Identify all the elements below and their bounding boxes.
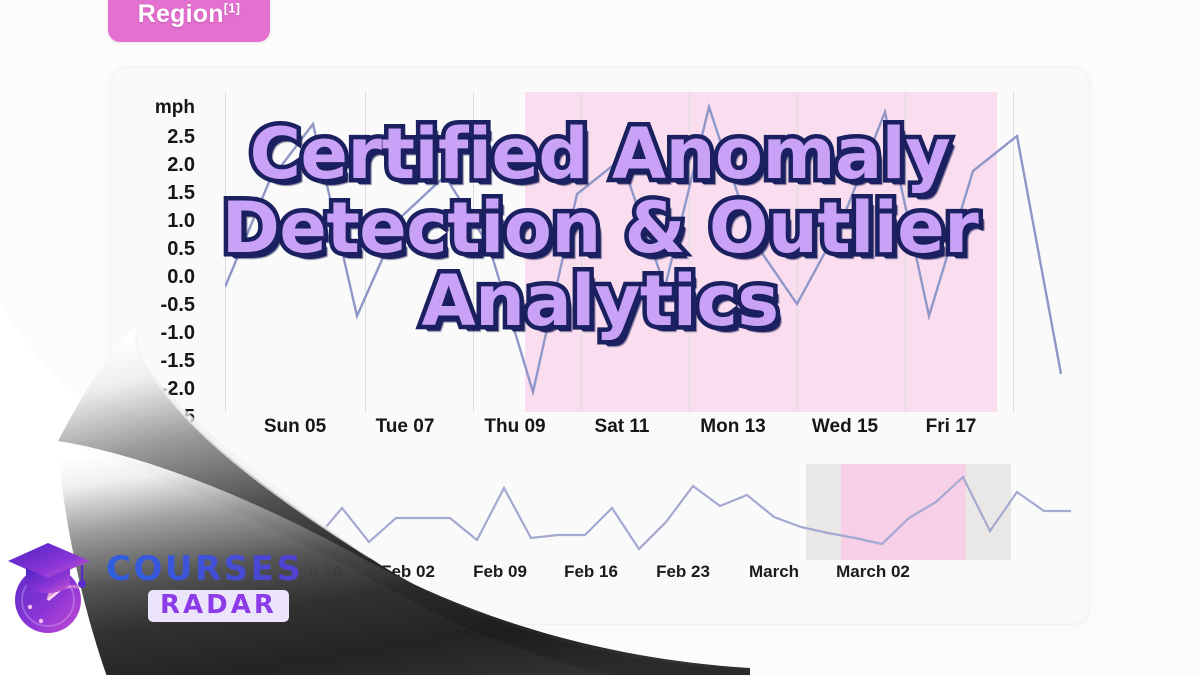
y-tick: 0.0 — [129, 267, 195, 295]
y-tick: 2.0 — [129, 155, 195, 183]
region-badge-label: Region[1] — [138, 0, 240, 29]
y-tick: -1.0 — [129, 323, 195, 351]
brand-wordmark: COURSES RADAR — [106, 552, 303, 623]
brush-x-tick: March 02 — [836, 562, 910, 582]
plot-area — [225, 92, 1065, 412]
y-tick: -2.0 — [129, 379, 195, 407]
region-badge[interactable]: Region[1] — [108, 0, 270, 42]
x-tick: Wed 15 — [812, 416, 878, 438]
x-tick: Mon 13 — [700, 416, 765, 438]
main-series-line — [225, 92, 1065, 412]
region-badge-superscript: [1] — [224, 0, 241, 15]
y-tick: -1.5 — [129, 351, 195, 379]
brush-x-tick: Feb 16 — [564, 562, 618, 582]
y-axis-unit-label: mph — [129, 98, 195, 127]
x-axis: Sun 05 Tue 07 Thu 09 Sat 11 Mon 13 Wed 1… — [225, 416, 1065, 448]
brush-x-tick: Feb 02 — [381, 562, 435, 582]
brand-logo[interactable]: COURSES RADAR — [8, 528, 278, 646]
x-tick: Tue 07 — [376, 416, 435, 438]
graduation-cap-radar-icon — [8, 537, 94, 637]
promo-graphic: Region[1] mph 2.5 2.0 1.5 1.0 0.5 0.0 -0… — [0, 0, 1200, 675]
x-tick: Thu 09 — [484, 416, 545, 438]
brush-series-line — [261, 468, 1071, 558]
x-tick: Sat 11 — [595, 416, 650, 438]
y-tick: 0.5 — [129, 239, 195, 267]
y-tick: -0.5 — [129, 295, 195, 323]
brush-x-tick: Feb 09 — [473, 562, 527, 582]
brush-x-tick: Feb 23 — [656, 562, 710, 582]
y-axis: mph 2.5 2.0 1.5 1.0 0.5 0.0 -0.5 -1.0 -1… — [129, 98, 195, 438]
brush-plot-area — [261, 468, 1071, 558]
brand-name-primary: COURSES — [106, 552, 303, 588]
y-tick: 1.0 — [129, 211, 195, 239]
brush-x-axis: Jan 26 Feb 02 Feb 09 Feb 16 Feb 23 March… — [261, 562, 1071, 592]
x-tick: Fri 17 — [926, 416, 977, 438]
y-tick: 1.5 — [129, 183, 195, 211]
brand-name-secondary-chip: RADAR — [148, 590, 289, 622]
y-tick: 2.5 — [129, 127, 195, 155]
range-brush-chart[interactable]: Jan 26 Feb 02 Feb 09 Feb 16 Feb 23 March… — [261, 468, 1071, 623]
y-tick: -2.5 — [129, 407, 195, 435]
main-chart: mph 2.5 2.0 1.5 1.0 0.5 0.0 -0.5 -1.0 -1… — [111, 68, 1090, 468]
x-tick: Sun 05 — [264, 416, 326, 438]
brush-x-tick: March — [749, 562, 799, 582]
footer-caption: ly [2] — [420, 626, 471, 652]
brand-name-secondary: RADAR — [160, 590, 277, 620]
